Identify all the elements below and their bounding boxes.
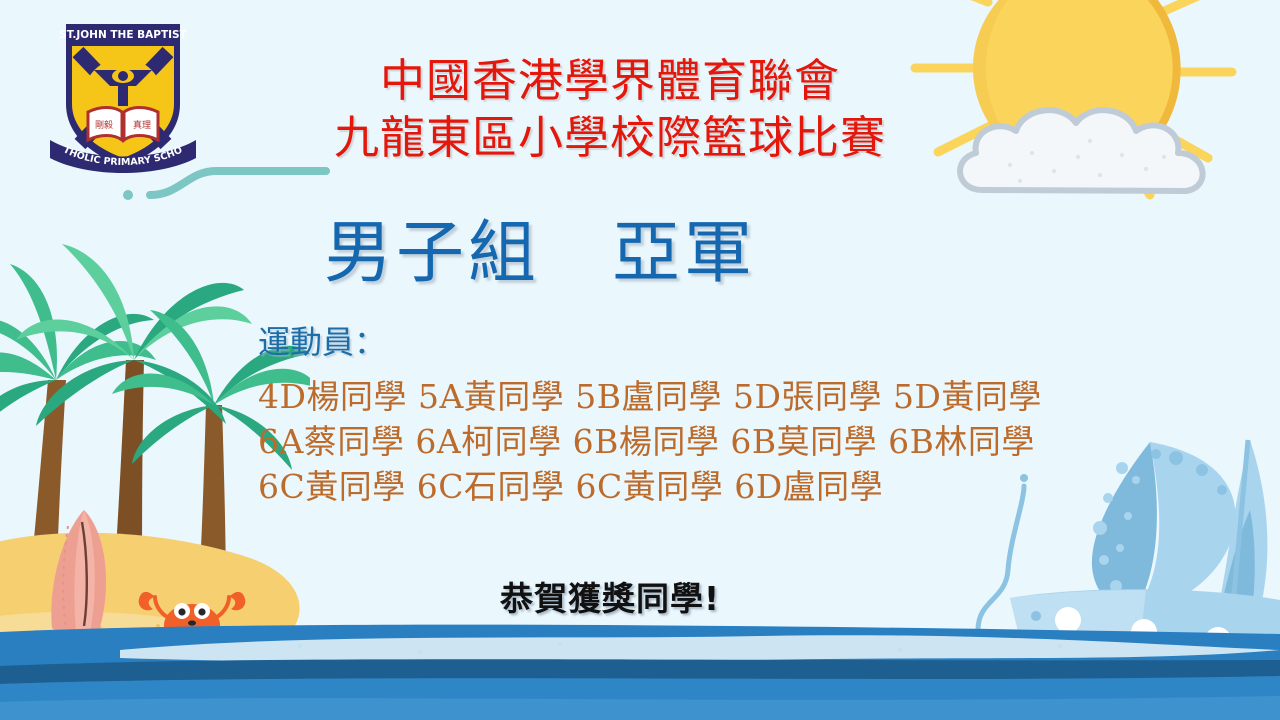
award-poster: ST.JOHN THE BAPTIST 剛毅 真理 CATHOLIC PRIMA…	[0, 0, 1280, 720]
event-title: 中國香港學界體育聯會 九龍東區小學校際籃球比賽	[210, 52, 1010, 166]
athlete-row: 6C黃同學 6C石同學 6C黃同學 6D盧同學	[258, 464, 1158, 509]
event-title-line2: 九龍東區小學校際籃球比賽	[210, 109, 1010, 166]
athlete-list: 4D楊同學 5A黃同學 5B盧同學 5D張同學 5D黃同學 6A蔡同學 6A柯同…	[258, 374, 1158, 509]
event-title-line1: 中國香港學界體育聯會	[380, 54, 840, 107]
award-title: 男子組 亞軍	[210, 215, 870, 293]
athlete-row: 4D楊同學 5A黃同學 5B盧同學 5D張同學 5D黃同學	[258, 374, 1158, 419]
poster-content: 中國香港學界體育聯會 九龍東區小學校際籃球比賽 男子組 亞軍 運動員： 4D楊同…	[0, 0, 1280, 720]
athletes-label: 運動員：	[258, 322, 386, 362]
congratulation-text: 恭賀獲獎同學!	[300, 572, 920, 620]
athlete-row: 6A蔡同學 6A柯同學 6B楊同學 6B莫同學 6B林同學	[258, 419, 1158, 464]
